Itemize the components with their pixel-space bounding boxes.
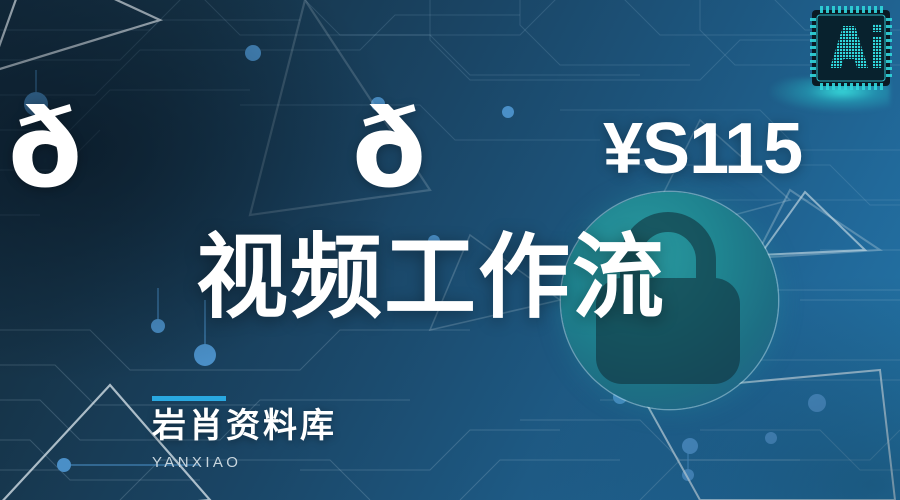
brand-accent-bar: [152, 396, 226, 401]
page-title: 视频工作流: [196, 232, 666, 324]
brand-subtitle: YANXIAO: [152, 454, 337, 471]
ai-chip-logo: [810, 4, 892, 92]
brand-block: 岩肖资料库 YANXIAO: [152, 396, 337, 471]
poster-canvas: ð ð ¥S115 视频工作流 岩肖资料库 YANXIAO: [0, 0, 900, 500]
brand-name: 岩肖资料库: [152, 409, 337, 443]
price-text: ¥S115: [603, 113, 802, 185]
tofu-glyph-left: ð: [8, 96, 82, 204]
tofu-glyph-mid: ð: [352, 96, 426, 204]
